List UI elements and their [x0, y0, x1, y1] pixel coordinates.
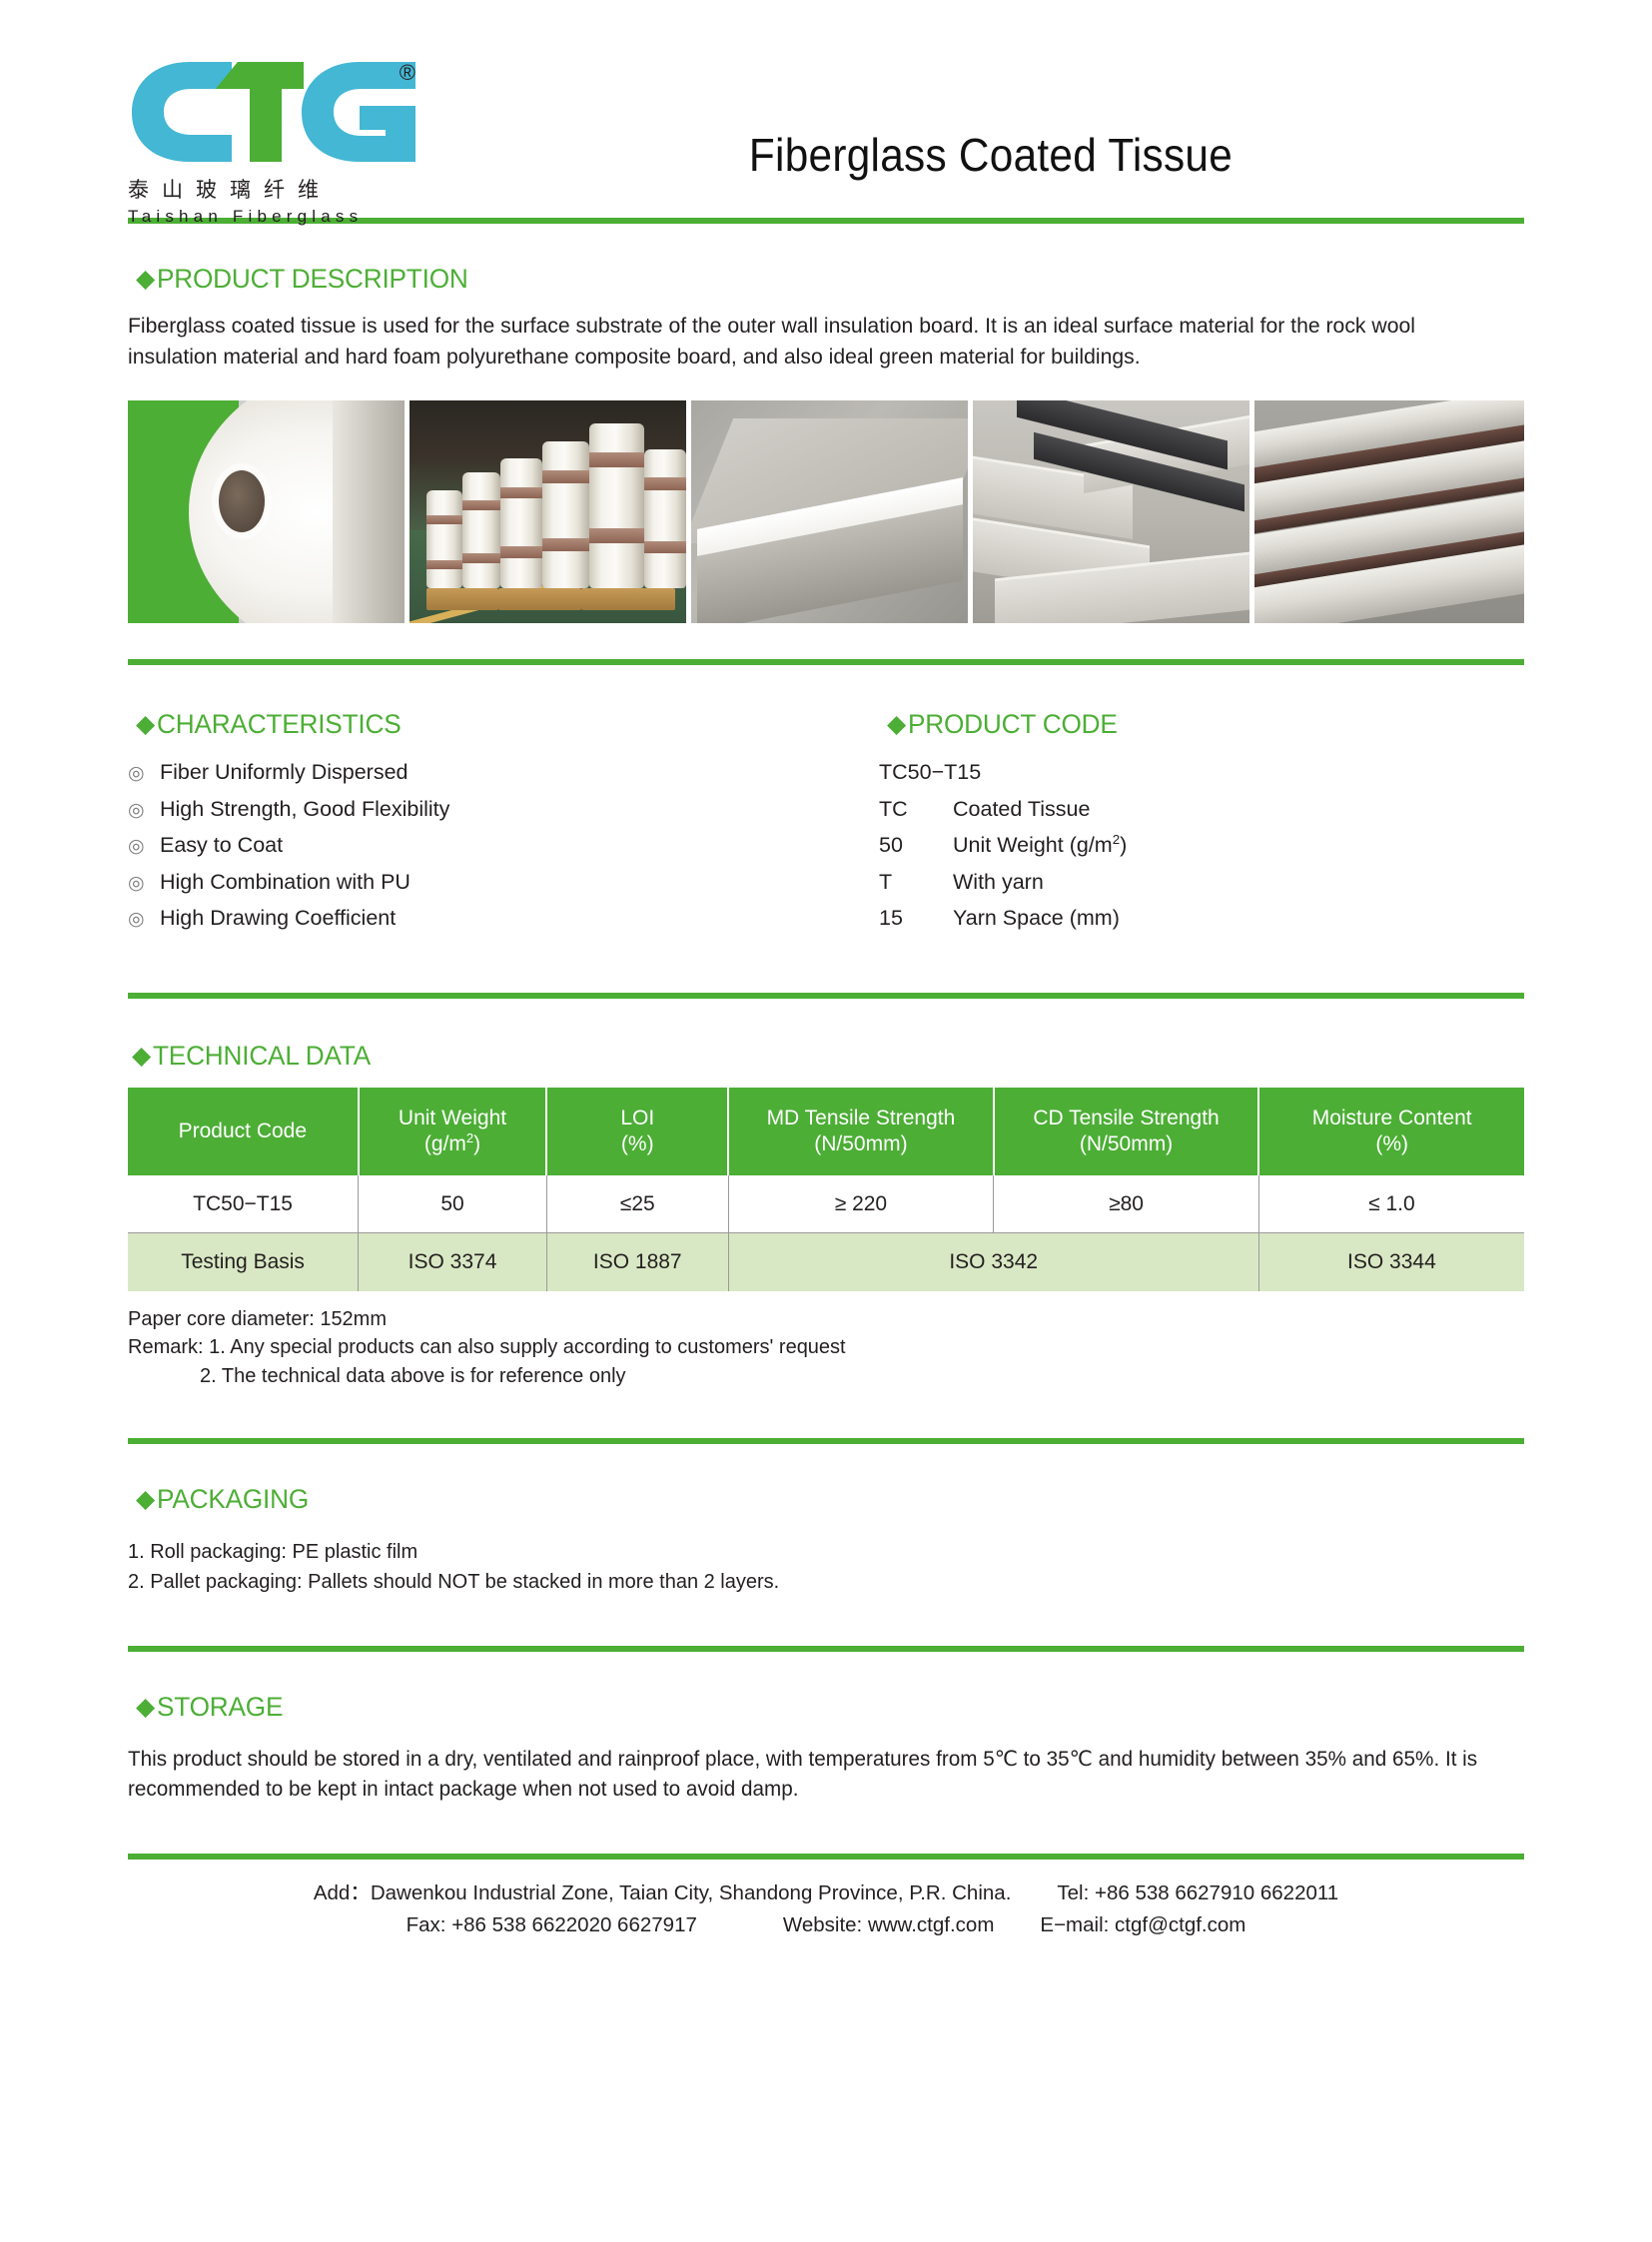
list-item: ◎ Fiber Uniformly Dispersed: [128, 762, 867, 784]
note-paper-core: Paper core diameter: 152mm: [128, 1305, 1524, 1333]
list-item: ◎ High Strength, Good Flexibility: [128, 799, 867, 821]
legend-key: TC: [879, 799, 953, 821]
cell-loi: ≤25: [546, 1175, 728, 1233]
double-circle-bullet-icon: ◎: [128, 801, 148, 820]
diamond-bullet-icon: ◆: [136, 1487, 155, 1512]
cell-testing-basis-label: Testing Basis: [128, 1233, 359, 1291]
cell-basis-unit-weight: ISO 3374: [359, 1233, 547, 1291]
photo-fiberglass-roll-closeup: [128, 400, 405, 623]
photo-warehouse-packed-rolls: [410, 400, 686, 623]
table-header-row: Product Code Unit Weight (g/m2) LOI (%) …: [128, 1088, 1524, 1175]
double-circle-bullet-icon: ◎: [128, 910, 148, 929]
column-header-md-tensile-strength: MD Tensile Strength (N/50mm): [728, 1088, 994, 1175]
diamond-bullet-icon: ◆: [136, 712, 155, 737]
column-header-cd-tensile-strength: CD Tensile Strength (N/50mm): [994, 1088, 1259, 1175]
list-item: 2. Pallet packaging: Pallets should NOT …: [128, 1567, 1524, 1597]
cell-cd-tensile: ≥80: [994, 1175, 1259, 1233]
list-item: 1. Roll packaging: PE plastic film: [128, 1537, 1524, 1567]
product-code-value: TC50−T15: [879, 762, 1524, 784]
legend-meaning: With yarn: [953, 872, 1524, 894]
product-photo-strip: [128, 400, 1524, 623]
heading-label: TECHNICAL DATA: [153, 1041, 371, 1072]
cell-md-tensile: ≥ 220: [728, 1175, 994, 1233]
list-item-label: High Strength, Good Flexibility: [160, 799, 449, 821]
list-item-label: High Drawing Coefficient: [160, 908, 396, 930]
legend-row: TC Coated Tissue: [879, 799, 1524, 821]
storage-paragraph: This product should be stored in a dry, …: [128, 1745, 1503, 1806]
brand-name-english: Taishan Fiberglass: [128, 207, 457, 227]
heading-product-description: ◆ PRODUCT DESCRIPTION: [136, 264, 1524, 295]
section-packaging: ◆ PACKAGING 1. Roll packaging: PE plasti…: [0, 1444, 1652, 1598]
heading-label: PRODUCT DESCRIPTION: [157, 264, 468, 295]
page-header: ® 泰山玻璃纤维 Taishan Fiberglass Fiberglass C…: [0, 0, 1652, 218]
list-item-label: Fiber Uniformly Dispersed: [160, 762, 409, 784]
heading-technical-data: ◆ TECHNICAL DATA: [132, 1041, 1524, 1072]
page-footer: Add：Dawenkou Industrial Zone, Taian City…: [0, 1860, 1652, 1943]
list-item: ◎ High Combination with PU: [128, 872, 867, 894]
legend-row: 15 Yarn Space (mm): [879, 908, 1524, 930]
double-circle-bullet-icon: ◎: [128, 874, 148, 893]
cell-unit-weight: 50: [359, 1175, 547, 1233]
cell-moisture: ≤ 1.0: [1258, 1175, 1524, 1233]
footer-fax: Fax: +86 538 6622020 6627917: [407, 1909, 697, 1942]
packaging-list: 1. Roll packaging: PE plastic film 2. Pa…: [128, 1537, 1524, 1598]
legend-row: T With yarn: [879, 872, 1524, 894]
footer-tel: Tel: +86 538 6627910 6622011: [1057, 1877, 1338, 1910]
datasheet-page: ® 泰山玻璃纤维 Taishan Fiberglass Fiberglass C…: [0, 0, 1652, 2242]
brand-name-chinese: 泰山玻璃纤维: [128, 174, 457, 204]
ctg-logo: ®: [128, 56, 427, 168]
double-circle-bullet-icon: ◎: [128, 837, 148, 856]
section-technical-data: ◆ TECHNICAL DATA Product Code Unit Weigh…: [0, 999, 1652, 1390]
technical-data-notes: Paper core diameter: 152mm Remark: 1. An…: [128, 1305, 1524, 1390]
footer-email[interactable]: E−mail: ctgf@ctgf.com: [1040, 1909, 1245, 1942]
list-item-label: Easy to Coat: [160, 835, 283, 857]
heading-packaging: ◆ PACKAGING: [136, 1484, 1524, 1515]
list-item: ◎ Easy to Coat: [128, 835, 867, 857]
heading-label: PACKAGING: [157, 1484, 309, 1515]
cell-basis-moisture: ISO 3344: [1258, 1233, 1524, 1291]
list-item-label: High Combination with PU: [160, 872, 411, 894]
legend-meaning: Unit Weight (g/m2): [953, 835, 1524, 857]
legend-row: 50 Unit Weight (g/m2): [879, 835, 1524, 857]
registered-trademark-icon: ®: [400, 62, 415, 84]
section-characteristics-and-code: ◆ CHARACTERISTICS ◎ Fiber Uniformly Disp…: [0, 665, 1652, 945]
heading-product-code: ◆ PRODUCT CODE: [887, 709, 1524, 740]
brand-logo-block: ® 泰山玻璃纤维 Taishan Fiberglass: [128, 0, 457, 227]
list-item: ◎ High Drawing Coefficient: [128, 908, 867, 930]
column-characteristics: ◆ CHARACTERISTICS ◎ Fiber Uniformly Disp…: [128, 709, 867, 945]
cell-basis-loi: ISO 1887: [546, 1233, 728, 1291]
section-storage: ◆ STORAGE This product should be stored …: [0, 1652, 1652, 1806]
diamond-bullet-icon: ◆: [887, 712, 906, 737]
footer-website[interactable]: Website: www.ctgf.com: [783, 1909, 995, 1942]
section-product-description: ◆ PRODUCT DESCRIPTION Fiberglass coated …: [0, 224, 1652, 623]
product-code-legend: TC50−T15 TC Coated Tissue 50 Unit Weight…: [879, 762, 1524, 930]
column-header-product-code: Product Code: [128, 1088, 359, 1175]
footer-line-1: Add：Dawenkou Industrial Zone, Taian City…: [128, 1877, 1524, 1910]
legend-key: 50: [879, 835, 953, 857]
diamond-bullet-icon: ◆: [136, 1695, 155, 1720]
photo-stacked-composite-boards: [1254, 400, 1524, 623]
legend-key: 15: [879, 908, 953, 930]
legend-meaning: Yarn Space (mm): [953, 908, 1524, 930]
legend-key: T: [879, 872, 953, 894]
table-row-testing-basis: Testing Basis ISO 3374 ISO 1887 ISO 3342…: [128, 1233, 1524, 1291]
ctg-logo-svg: [128, 56, 427, 168]
technical-data-table: Product Code Unit Weight (g/m2) LOI (%) …: [128, 1088, 1524, 1291]
diamond-bullet-icon: ◆: [136, 267, 155, 292]
footer-address: Add：Dawenkou Industrial Zone, Taian City…: [314, 1877, 1012, 1910]
column-header-unit-weight: Unit Weight (g/m2): [359, 1088, 547, 1175]
note-remark-2: 2. The technical data above is for refer…: [128, 1362, 1524, 1390]
column-product-code: ◆ PRODUCT CODE TC50−T15 TC Coated Tissue…: [867, 709, 1524, 945]
heading-storage: ◆ STORAGE: [136, 1692, 1524, 1723]
diamond-bullet-icon: ◆: [132, 1044, 151, 1069]
heading-label: CHARACTERISTICS: [157, 709, 401, 740]
legend-meaning: Coated Tissue: [953, 799, 1524, 821]
photo-insulation-board-sample: [691, 400, 968, 623]
photo-panels-with-dark-strips: [973, 400, 1249, 623]
table-row-product-values: TC50−T15 50 ≤25 ≥ 220 ≥80 ≤ 1.0: [128, 1175, 1524, 1233]
cell-product-code: TC50−T15: [128, 1175, 359, 1233]
column-header-loi: LOI (%): [546, 1088, 728, 1175]
column-header-moisture-content: Moisture Content (%): [1258, 1088, 1524, 1175]
double-circle-bullet-icon: ◎: [128, 764, 148, 783]
footer-line-2: Fax: +86 538 6622020 6627917 Website: ww…: [128, 1909, 1524, 1942]
page-title: Fiberglass Coated Tissue: [500, 0, 1482, 182]
heading-characteristics: ◆ CHARACTERISTICS: [136, 709, 867, 740]
note-remark-1: Remark: 1. Any special products can also…: [128, 1333, 1524, 1361]
cell-basis-tensile: ISO 3342: [728, 1233, 1258, 1291]
heading-label: PRODUCT CODE: [908, 709, 1118, 740]
heading-label: STORAGE: [157, 1692, 283, 1723]
characteristics-list: ◎ Fiber Uniformly Dispersed ◎ High Stren…: [128, 762, 867, 930]
product-description-paragraph: Fiberglass coated tissue is used for the…: [128, 311, 1503, 373]
